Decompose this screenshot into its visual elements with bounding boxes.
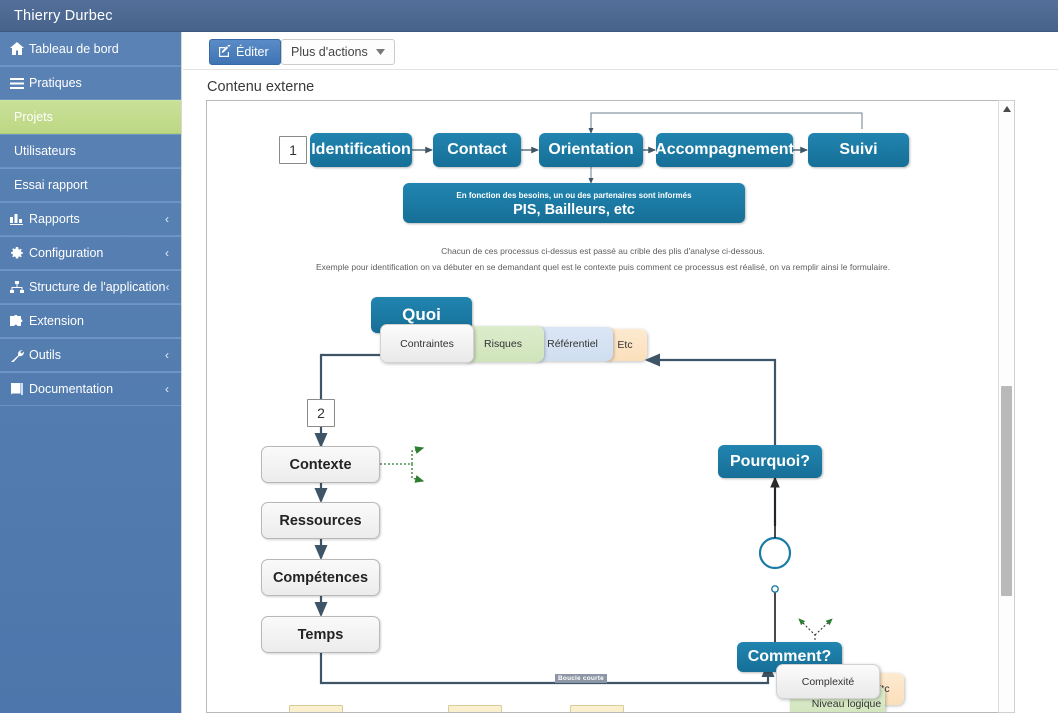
quoi-pill-risques[interactable]: Risques	[462, 326, 544, 362]
sitemap-icon	[10, 281, 29, 293]
explanation-line-2: Exemple pour identification on va débute…	[207, 262, 998, 273]
chain-node-label: Ressources	[279, 513, 361, 529]
sidebar-item-label: Outils	[29, 348, 165, 362]
sidebar-item-utilisateurs[interactable]: Utilisateurs	[0, 134, 181, 168]
pencil-square-icon	[219, 45, 231, 60]
diagram-canvas: 1 Identification Contact Orientation Acc…	[207, 101, 998, 713]
chain-node-label: Temps	[298, 627, 344, 643]
chevron-left-icon: ‹	[166, 280, 182, 294]
process-node-label: Identification	[311, 141, 411, 159]
wrench-icon	[10, 349, 29, 362]
sidebar-item-label: Tableau de bord	[29, 42, 169, 56]
process-node-label: Contact	[447, 141, 507, 159]
viewer-vertical-scrollbar[interactable]	[998, 100, 1015, 713]
sidebar-item-tableau-de-bord[interactable]: Tableau de bord	[0, 32, 181, 66]
sidebar-item-label: Rapports	[29, 212, 165, 226]
partners-node[interactable]: En fonction des besoins, un ou des parte…	[403, 183, 745, 223]
quoi-pill-referentiel[interactable]: Référentiel	[532, 327, 613, 361]
chain-node-ressources[interactable]: Ressources	[261, 502, 380, 539]
plis-box-2[interactable]: Plis 2	[448, 705, 502, 713]
list-icon	[10, 78, 29, 89]
partners-node-title: PIS, Bailleurs, etc	[513, 202, 635, 219]
sidebar-item-outils[interactable]: Outils ‹	[0, 338, 181, 372]
edit-button-label: Éditer	[236, 45, 269, 59]
sidebar-item-label: Pratiques	[29, 76, 169, 90]
chevron-left-icon: ‹	[165, 382, 181, 396]
comment-pill-complexite[interactable]: Complexité	[776, 664, 880, 699]
chain-node-contexte[interactable]: Contexte	[261, 446, 380, 483]
plis-box-3[interactable]: Plis 3	[570, 705, 624, 713]
chain-node-label: Compétences	[273, 570, 368, 586]
puzzle-icon	[10, 315, 29, 327]
more-actions-button[interactable]: Plus d'actions	[281, 39, 395, 65]
bar-chart-icon	[10, 213, 29, 225]
sidebar-item-structure-application[interactable]: Structure de l'application ‹	[0, 270, 181, 304]
sidebar-item-label: Utilisateurs	[14, 144, 181, 158]
process-node-label: Orientation	[548, 141, 633, 159]
sidebar-item-label: Projets	[14, 110, 181, 124]
step-number-2-label: 2	[317, 405, 325, 421]
sidebar-item-label: Essai rapport	[14, 178, 181, 192]
comment-pill-label: Niveau logique	[812, 698, 881, 710]
sidebar-item-label: Configuration	[29, 246, 165, 260]
app-root: Thierry Durbec Tableau de bord Pratiques…	[0, 0, 1058, 713]
more-actions-label: Plus d'actions	[291, 45, 368, 59]
chain-node-competences[interactable]: Compétences	[261, 559, 380, 596]
sidebar-item-documentation[interactable]: Documentation ‹	[0, 372, 181, 406]
top-bar: Thierry Durbec	[0, 0, 1058, 32]
app-brand-title: Thierry Durbec	[14, 0, 113, 32]
chevron-left-icon: ‹	[165, 246, 181, 260]
explanation-line-1: Chacun de ces processus ci-dessus est pa…	[207, 246, 998, 257]
chain-node-temps[interactable]: Temps	[261, 616, 380, 653]
quoi-pill-label: Risques	[484, 338, 522, 350]
main-content: Éditer Plus d'actions Contenu externe	[183, 33, 1058, 713]
sidebar-item-configuration[interactable]: Configuration ‹	[0, 236, 181, 270]
step-number-1-label: 1	[289, 142, 297, 158]
sidebar-item-essai-rapport[interactable]: Essai rapport	[0, 168, 181, 202]
quoi-pill-contraintes[interactable]: Contraintes	[380, 324, 474, 363]
sidebar-item-label: Extension	[29, 314, 169, 328]
chevron-down-icon	[376, 47, 385, 57]
process-node-label: Accompagnement	[655, 141, 794, 159]
chevron-left-icon: ‹	[165, 348, 181, 362]
sidebar-nav: Tableau de bord Pratiques Projets Utilis…	[0, 32, 182, 713]
chevron-left-icon: ‹	[165, 212, 181, 226]
action-toolbar: Éditer Plus d'actions	[183, 33, 1058, 70]
pourquoi-node[interactable]: Pourquoi?	[718, 445, 822, 478]
sidebar-item-label: Structure de l'application	[29, 280, 166, 294]
book-icon	[10, 383, 29, 395]
plis-box-1[interactable]: Plis1	[289, 705, 343, 713]
external-content-viewer: 1 Identification Contact Orientation Acc…	[206, 100, 998, 713]
chain-node-label: Contexte	[289, 457, 351, 473]
gear-icon	[10, 246, 29, 260]
sidebar-item-label: Documentation	[29, 382, 165, 396]
partners-node-subtitle: En fonction des besoins, un ou des parte…	[456, 192, 691, 201]
pourquoi-node-label: Pourquoi?	[730, 453, 810, 471]
process-node-contact[interactable]: Contact	[433, 133, 521, 167]
explanation-text: Chacun de ces processus ci-dessus est pa…	[441, 246, 765, 256]
quoi-pill-label: Contraintes	[400, 338, 454, 350]
edit-button[interactable]: Éditer	[209, 39, 281, 65]
process-node-identification[interactable]: Identification	[310, 133, 412, 167]
quoi-node-label: Quoi	[402, 305, 441, 325]
explanation-text: Exemple pour identification on va débute…	[316, 262, 890, 272]
home-icon	[10, 42, 29, 55]
page-title: Contenu externe	[207, 79, 314, 95]
sidebar-item-extension[interactable]: Extension	[0, 304, 181, 338]
process-node-label: Suivi	[839, 141, 877, 159]
scrollbar-thumb[interactable]	[1001, 386, 1012, 596]
sidebar-item-rapports[interactable]: Rapports ‹	[0, 202, 181, 236]
comment-pill-label: Complexité	[802, 676, 855, 688]
sidebar-item-projets[interactable]: Projets	[0, 100, 181, 134]
sidebar-item-pratiques[interactable]: Pratiques	[0, 66, 181, 100]
step-number-1: 1	[279, 136, 307, 164]
quoi-pill-label: Référentiel	[547, 338, 598, 350]
process-node-suivi[interactable]: Suivi	[808, 133, 909, 167]
process-node-orientation[interactable]: Orientation	[539, 133, 643, 167]
quoi-pill-label: Etc	[617, 339, 632, 351]
step-number-2: 2	[307, 399, 335, 427]
scroll-up-arrow-icon[interactable]	[999, 101, 1014, 116]
loop-label: Boucle courte	[555, 674, 607, 683]
process-node-accompagnement[interactable]: Accompagnement	[656, 133, 793, 167]
